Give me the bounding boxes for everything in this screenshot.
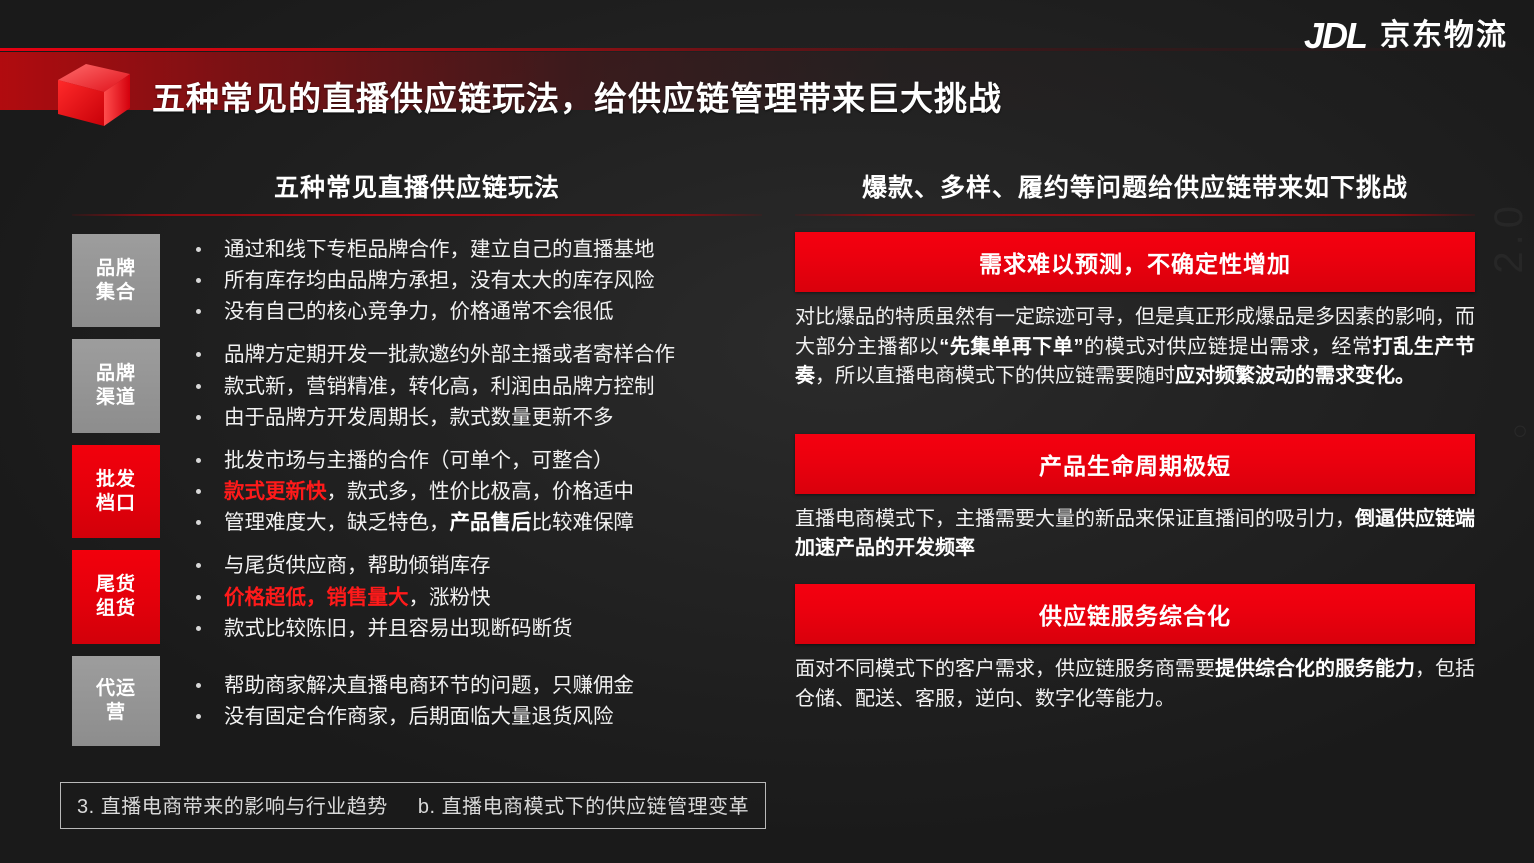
challenge-body: 对比爆品的特质虽然有一定踪迹可寻，但是真正形成爆品是多因素的影响，而大部分主播都… [795,303,1475,392]
playbook-bullet: 帮助商家解决直播电商环节的问题，只赚佣金 [190,670,762,701]
left-column: 五种常见直播供应链玩法 品牌集合通过和线下专柜品牌合作，建立自己的直播基地所有库… [72,168,762,758]
bullet-text: 管理难度大，缺乏特色， [224,511,450,534]
jdl-logo-text: 京东物流 [1380,21,1508,51]
playbook-bullets: 帮助商家解决直播电商环节的问题，只赚佣金没有固定合作商家，后期面临大量退货风险 [160,656,762,746]
challenge-text: ，所以直播电商模式下的供应链需要随时 [815,365,1175,387]
playbook-bullet: 与尾货供应商，帮助倾销库存 [190,550,762,581]
bullet-text: 批发市场与主播的合作（可单个，可整合） [224,449,614,472]
breadcrumb[interactable]: 3. 直播电商带来的影响与行业趋势 b. 直播电商模式下的供应链管理变革 [60,782,766,829]
playbook-row: 品牌集合通过和线下专柜品牌合作，建立自己的直播基地所有库存均由品牌方承担，没有太… [72,234,762,327]
challenge-block: 需求难以预测，不确定性增加对比爆品的特质虽然有一定踪迹可寻，但是真正形成爆品是多… [795,232,1475,392]
playbook-bullet: 通过和线下专柜品牌合作，建立自己的直播基地 [190,234,762,265]
playbook-bullet: 批发市场与主播的合作（可单个，可整合） [190,445,762,476]
playbook-tag-line1: 品牌 [96,362,136,386]
bullet-text: ，涨粉快 [409,586,491,609]
bullet-text: 所有库存均由品牌方承担，没有太大的库存风险 [224,269,655,292]
bullet-highlight: 价格超低，销售量大 [224,586,409,609]
playbook-tag-line1: 尾货 [96,573,136,597]
playbook-bullet: 品牌方定期开发一批款邀约外部主播或者寄样合作 [190,339,762,370]
playbook-tag-line1: 批发 [96,468,136,492]
watermark-dot-icon: ○ [1512,415,1528,446]
left-column-heading: 五种常见直播供应链玩法 [72,168,762,204]
bullet-text: 款式比较陈旧，并且容易出现断码断货 [224,617,573,640]
challenge-emphasis: 提供综合化的服务能力 [1215,658,1415,680]
playbook-tag-line2: 组货 [96,597,136,621]
challenge-block: 产品生命周期极短直播电商模式下，主播需要大量的新品来保证直播间的吸引力，倒逼供应… [795,434,1475,564]
challenge-list: 需求难以预测，不确定性增加对比爆品的特质虽然有一定踪迹可寻，但是真正形成爆品是多… [795,232,1475,714]
playbook-tag[interactable]: 品牌集合 [72,234,160,327]
playbook-bullet: 所有库存均由品牌方承担，没有太大的库存风险 [190,265,762,296]
jdl-logo: JDL 京东物流 [1304,18,1508,54]
playbook-tag[interactable]: 品牌渠道 [72,339,160,432]
bullet-text: 品牌方定期开发一批款邀约外部主播或者寄样合作 [224,343,675,366]
playbook-bullet: 没有自己的核心竞争力，价格通常不会很低 [190,296,762,327]
playbook-tag-line2: 集合 [96,281,136,305]
bullet-text: 与尾货供应商，帮助倾销库存 [224,554,491,577]
playbook-bullets: 通过和线下专柜品牌合作，建立自己的直播基地所有库存均由品牌方承担，没有太大的库存… [160,234,762,327]
playbook-tag[interactable]: 代运营 [72,656,160,746]
bullet-bold: 产品售后 [450,511,532,534]
bullet-text: 通过和线下专柜品牌合作，建立自己的直播基地 [224,238,655,261]
watermark-version: 2.0 [1487,200,1532,274]
playbook-tag[interactable]: 批发档口 [72,445,160,538]
challenge-banner[interactable]: 供应链服务综合化 [795,584,1475,644]
playbook-list: 品牌集合通过和线下专柜品牌合作，建立自己的直播基地所有库存均由品牌方承担，没有太… [72,234,762,746]
playbook-row: 品牌渠道品牌方定期开发一批款邀约外部主播或者寄样合作款式新，营销精准，转化高，利… [72,339,762,432]
bullet-highlight: 款式更新快 [224,480,327,503]
challenge-block: 供应链服务综合化面对不同模式下的客户需求，供应链服务商需要提供综合化的服务能力，… [795,584,1475,714]
playbook-tag[interactable]: 尾货组货 [72,550,160,643]
challenge-emphasis: 应对频繁波动的需求变化。 [1175,365,1415,387]
left-column-rule [72,214,762,216]
right-column: 爆款、多样、履约等问题给供应链带来如下挑战 需求难以预测，不确定性增加对比爆品的… [795,168,1475,720]
playbook-tag-line2: 渠道 [96,386,136,410]
bullet-text: 由于品牌方开发周期长，款式数量更新不多 [224,406,614,429]
breadcrumb-subsection: b. 直播电商模式下的供应链管理变革 [418,796,749,818]
challenge-text: 直播电商模式下，主播需要大量的新品来保证直播间的吸引力， [795,508,1355,530]
playbook-tag-line1: 品牌 [96,257,136,281]
playbook-tag-line1: 代运 [96,677,136,701]
bullet-text: ，款式多，性价比极高，价格适中 [327,480,635,503]
playbook-bullet: 由于品牌方开发周期长，款式数量更新不多 [190,402,762,433]
block-spacer [795,398,1475,434]
playbook-row: 代运营帮助商家解决直播电商环节的问题，只赚佣金没有固定合作商家，后期面临大量退货… [72,656,762,746]
bullet-text: 没有自己的核心竞争力，价格通常不会很低 [224,300,614,323]
playbook-row: 尾货组货与尾货供应商，帮助倾销库存价格超低，销售量大，涨粉快款式比较陈旧，并且容… [72,550,762,643]
bullet-text-tail: 比较难保障 [532,511,635,534]
playbook-bullet: 款式更新快，款式多，性价比极高，价格适中 [190,476,762,507]
breadcrumb-section: 3. 直播电商带来的影响与行业趋势 [77,796,388,818]
challenge-body: 直播电商模式下，主播需要大量的新品来保证直播间的吸引力，倒逼供应链端加速产品的开… [795,505,1475,564]
playbook-bullets: 品牌方定期开发一批款邀约外部主播或者寄样合作款式新，营销精准，转化高，利润由品牌… [160,339,762,432]
playbook-row: 批发档口批发市场与主播的合作（可单个，可整合）款式更新快，款式多，性价比极高，价… [72,445,762,538]
playbook-bullet: 没有固定合作商家，后期面临大量退货风险 [190,701,762,732]
bullet-text: 帮助商家解决直播电商环节的问题，只赚佣金 [224,674,634,697]
challenge-banner[interactable]: 需求难以预测，不确定性增加 [795,232,1475,292]
playbook-bullet: 款式新，营销精准，转化高，利润由品牌方控制 [190,371,762,402]
jdl-logo-mark: JDL [1304,18,1366,54]
red-cube-icon [56,62,132,128]
playbook-tag-line2: 档口 [96,492,136,516]
challenge-banner[interactable]: 产品生命周期极短 [795,434,1475,494]
right-column-heading: 爆款、多样、履约等问题给供应链带来如下挑战 [795,168,1475,204]
block-spacer [795,570,1475,584]
playbook-bullet: 管理难度大，缺乏特色，产品售后比较难保障 [190,507,762,538]
page-title: 五种常见的直播供应链玩法，给供应链管理带来巨大挑战 [152,72,1002,120]
playbook-bullet: 款式比较陈旧，并且容易出现断码断货 [190,613,762,644]
playbook-bullets: 批发市场与主播的合作（可单个，可整合）款式更新快，款式多，性价比极高，价格适中管… [160,445,762,538]
bullet-text: 没有固定合作商家，后期面临大量退货风险 [224,705,614,728]
playbook-bullet: 价格超低，销售量大，涨粉快 [190,582,762,613]
right-column-rule [795,214,1475,216]
challenge-text: 面对不同模式下的客户需求，供应链服务商需要 [795,658,1215,680]
playbook-tag-line2: 营 [106,701,126,725]
playbook-bullets: 与尾货供应商，帮助倾销库存价格超低，销售量大，涨粉快款式比较陈旧，并且容易出现断… [160,550,762,643]
slide-canvas: 2.0 ○ 五种常见的直播供应链玩法，给供应链管理带来巨大挑战 JDL [0,0,1534,863]
challenge-text: 的模式对供应链提出需求，经常 [1084,336,1373,358]
bullet-text: 款式新，营销精准，转化高，利润由品牌方控制 [224,375,655,398]
challenge-emphasis: “先集单再下单” [939,336,1083,358]
challenge-body: 面对不同模式下的客户需求，供应链服务商需要提供综合化的服务能力，包括仓储、配送、… [795,655,1475,714]
